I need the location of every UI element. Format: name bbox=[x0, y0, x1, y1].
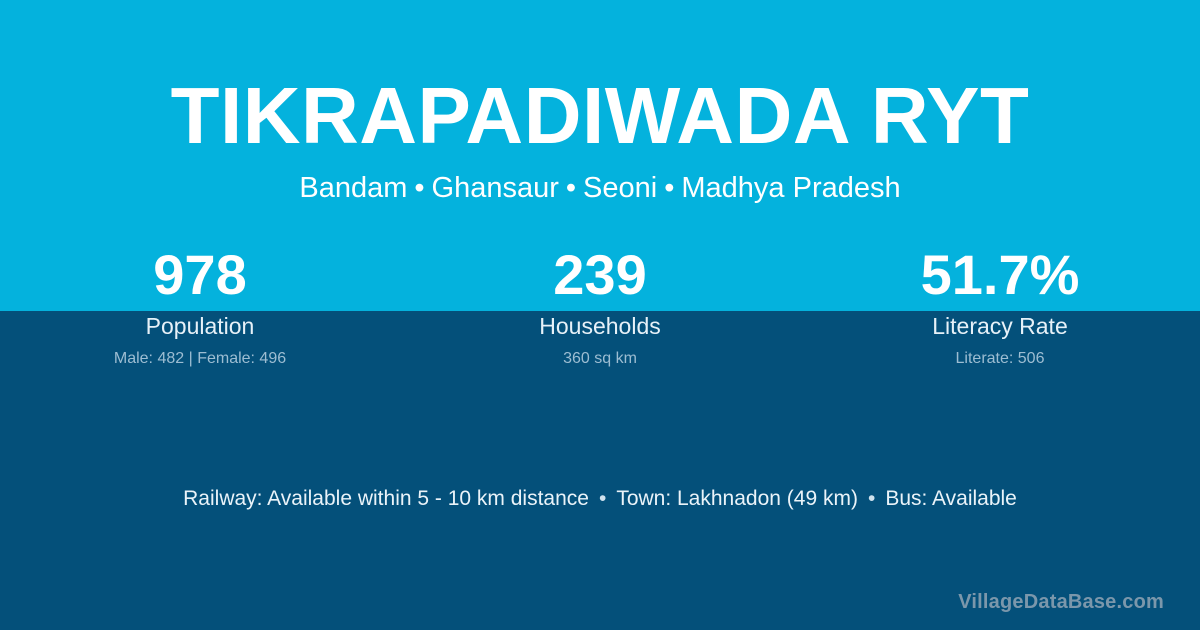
facility-town: Town: Lakhnadon (49 km) bbox=[616, 487, 858, 510]
stat-sublabel: Male: 482 | Female: 496 bbox=[0, 349, 400, 369]
breadcrumb-district: Seoni bbox=[583, 172, 657, 204]
breadcrumb-block: Ghansaur bbox=[432, 172, 559, 204]
breadcrumb-separator-1: • bbox=[407, 172, 431, 204]
stat-label: Households bbox=[400, 312, 800, 340]
facility-bus: Bus: Available bbox=[885, 487, 1017, 510]
breadcrumb-separator-3: • bbox=[657, 172, 681, 204]
stat-label: Population bbox=[0, 312, 400, 340]
page-title: TIKRAPADIWADA RYT bbox=[0, 0, 1200, 158]
breadcrumb-separator-2: • bbox=[559, 172, 583, 204]
stat-households: 239 Households 360 sq km bbox=[400, 243, 800, 369]
breadcrumb: Bandam•Ghansaur•Seoni•Madhya Pradesh bbox=[0, 158, 1200, 205]
breadcrumb-state: Madhya Pradesh bbox=[681, 172, 900, 204]
stat-sublabel: Literate: 506 bbox=[800, 349, 1200, 369]
village-info-card: TIKRAPADIWADA RYT Bandam•Ghansaur•Seoni•… bbox=[0, 0, 1200, 630]
breadcrumb-panchayat: Bandam bbox=[299, 172, 407, 204]
facilities-line: Railway: Available within 5 - 10 km dist… bbox=[0, 485, 1200, 513]
stat-population: 978 Population Male: 482 | Female: 496 bbox=[0, 243, 400, 369]
facility-separator-1: • bbox=[589, 487, 616, 510]
stats-row: 978 Population Male: 482 | Female: 496 2… bbox=[0, 243, 1200, 369]
stat-value: 51.7% bbox=[800, 243, 1200, 307]
facility-separator-2: • bbox=[858, 487, 885, 510]
facility-railway: Railway: Available within 5 - 10 km dist… bbox=[183, 487, 589, 510]
stat-value: 978 bbox=[0, 243, 400, 307]
stat-label: Literacy Rate bbox=[800, 312, 1200, 340]
stat-literacy-rate: 51.7% Literacy Rate Literate: 506 bbox=[800, 243, 1200, 369]
site-brand-watermark: VillageDataBase.com bbox=[958, 589, 1164, 615]
stat-sublabel: 360 sq km bbox=[400, 349, 800, 369]
stat-value: 239 bbox=[400, 243, 800, 307]
card-header: TIKRAPADIWADA RYT Bandam•Ghansaur•Seoni•… bbox=[0, 0, 1200, 205]
